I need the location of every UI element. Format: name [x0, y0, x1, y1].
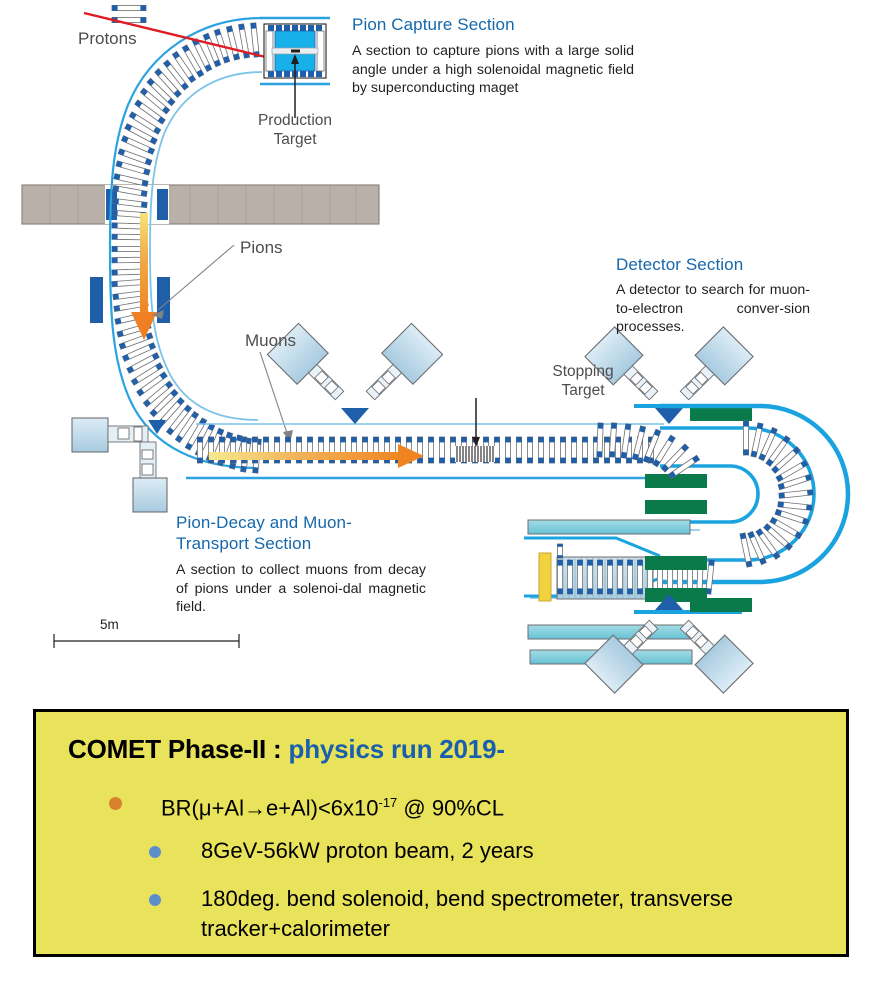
section-pion-decay-heading: Pion-Decay and Muon-Transport Section — [176, 512, 406, 554]
label-protons: Protons — [78, 29, 137, 48]
beamline-schematic — [0, 0, 882, 700]
label-muons: Muons — [245, 331, 296, 350]
callout-title-accent: physics run 2019- — [289, 734, 505, 764]
section-pion-capture-body: A section to capture pions with a large … — [352, 42, 634, 98]
label-production-target-line2: Target — [243, 130, 347, 149]
bullet-dot-blue-1 — [149, 846, 161, 858]
callout-bullet-3: 180deg. bend solenoid, bend spectrometer… — [149, 884, 761, 944]
callout-bullet-2-text: 8GeV-56kW proton beam, 2 years — [201, 836, 534, 866]
callout-bullet-1: BR(μ+Al→e+Al)<6x10-17 @ 90%CL — [109, 788, 504, 823]
scale-bar-label: 5m — [100, 617, 119, 632]
label-production-target: Production Target — [243, 111, 347, 149]
section-detector-heading: Detector Section — [616, 254, 810, 275]
label-pions: Pions — [240, 238, 283, 257]
bend-coils — [740, 421, 813, 567]
callout-bullet-1-text: BR(μ+Al→e+Al)<6x10-17 @ 90%CL — [161, 788, 504, 823]
stopping-target — [455, 398, 495, 462]
label-stopping-target-line2: Target — [535, 381, 631, 400]
bend-solenoid-180 — [645, 406, 848, 582]
summary-callout-box: COMET Phase-II : physics run 2019- BR(μ+… — [33, 709, 849, 957]
callout-bullet-2: 8GeV-56kW proton beam, 2 years — [149, 836, 534, 866]
pion-capture-magnet — [260, 18, 330, 118]
label-stopping-target-line1: Stopping — [535, 362, 631, 381]
bullet-1-before: BR(μ+Al→e+Al)<6x10 — [161, 795, 379, 820]
callout-title: COMET Phase-II : physics run 2019- — [68, 734, 505, 765]
callout-bullet-3-text: 180deg. bend solenoid, bend spectrometer… — [201, 884, 761, 944]
section-detector: Detector Section A detector to search fo… — [616, 254, 810, 337]
section-detector-body: A detector to search for muon-to-electro… — [616, 281, 810, 337]
scale-bar — [54, 634, 239, 648]
bullet-1-after: @ 90%CL — [397, 795, 504, 820]
bullet-dot-orange — [109, 797, 122, 810]
detector-lower-run — [524, 520, 753, 693]
diagram-canvas: Pion Capture Section A section to captur… — [0, 0, 882, 986]
section-pion-capture: Pion Capture Section A section to captur… — [352, 14, 634, 98]
callout-title-main: COMET Phase-II : — [68, 734, 289, 764]
detector-entry-coils — [597, 423, 700, 479]
label-stopping-target: Stopping Target — [535, 362, 631, 400]
section-pion-decay: Pion-Decay and Muon-Transport Section A … — [176, 512, 426, 617]
bullet-dot-blue-2 — [149, 894, 161, 906]
section-pion-capture-heading: Pion Capture Section — [352, 14, 634, 35]
shield-wall — [22, 185, 379, 224]
label-production-target-line1: Production — [243, 111, 347, 130]
section-pion-decay-body: A section to collect muons from decay of… — [176, 561, 426, 617]
bullet-1-superscript: -17 — [379, 795, 398, 810]
